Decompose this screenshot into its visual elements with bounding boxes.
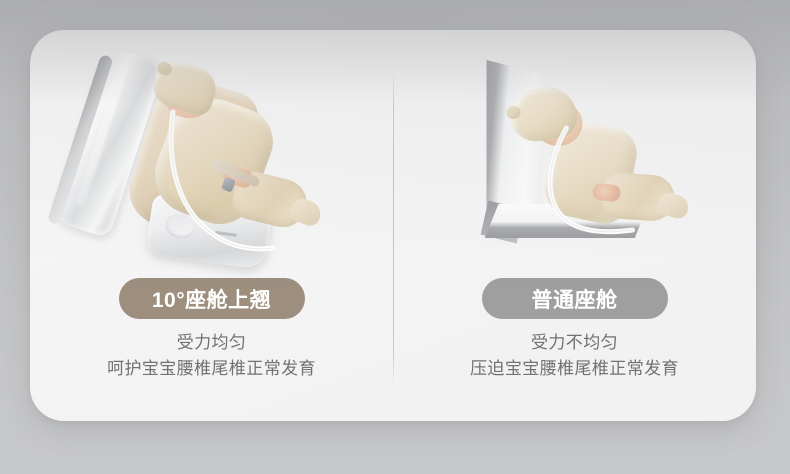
badge-tilted-cabin-label: 10°座舱上翘 [152, 284, 271, 314]
flat-seat-scene [462, 54, 687, 259]
caption-line-1: 受力不均匀 [393, 330, 756, 356]
caption-line-2: 压迫宝宝腰椎尾椎正常发育 [393, 356, 756, 382]
illustration-ordinary-cabin [393, 48, 756, 270]
comparison-card: 10°座舱上翘 受力均匀 呵护宝宝腰椎尾椎正常发育 [30, 30, 756, 421]
caption-line-2: 呵护宝宝腰椎尾椎正常发育 [30, 356, 393, 382]
compressed-spine-curve-icon [462, 54, 687, 259]
panel-tilted-cabin: 10°座舱上翘 受力均匀 呵护宝宝腰椎尾椎正常发育 [30, 30, 393, 421]
captions-ordinary-cabin: 受力不均匀 压迫宝宝腰椎尾椎正常发育 [393, 330, 756, 383]
badge-ordinary-cabin-label: 普通座舱 [532, 284, 618, 314]
badge-tilted-cabin[interactable]: 10°座舱上翘 [119, 278, 305, 319]
illustration-tilted-cabin [30, 48, 393, 270]
caption-line-1: 受力均匀 [30, 330, 393, 356]
comparison-infographic: 10°座舱上翘 受力均匀 呵护宝宝腰椎尾椎正常发育 [0, 0, 790, 474]
badge-ordinary-cabin[interactable]: 普通座舱 [482, 278, 668, 319]
cradle-seat-scene [97, 48, 327, 263]
supported-spine-curve-icon [97, 48, 327, 263]
captions-tilted-cabin: 受力均匀 呵护宝宝腰椎尾椎正常发育 [30, 330, 393, 383]
panel-ordinary-cabin: 普通座舱 受力不均匀 压迫宝宝腰椎尾椎正常发育 [393, 30, 756, 421]
